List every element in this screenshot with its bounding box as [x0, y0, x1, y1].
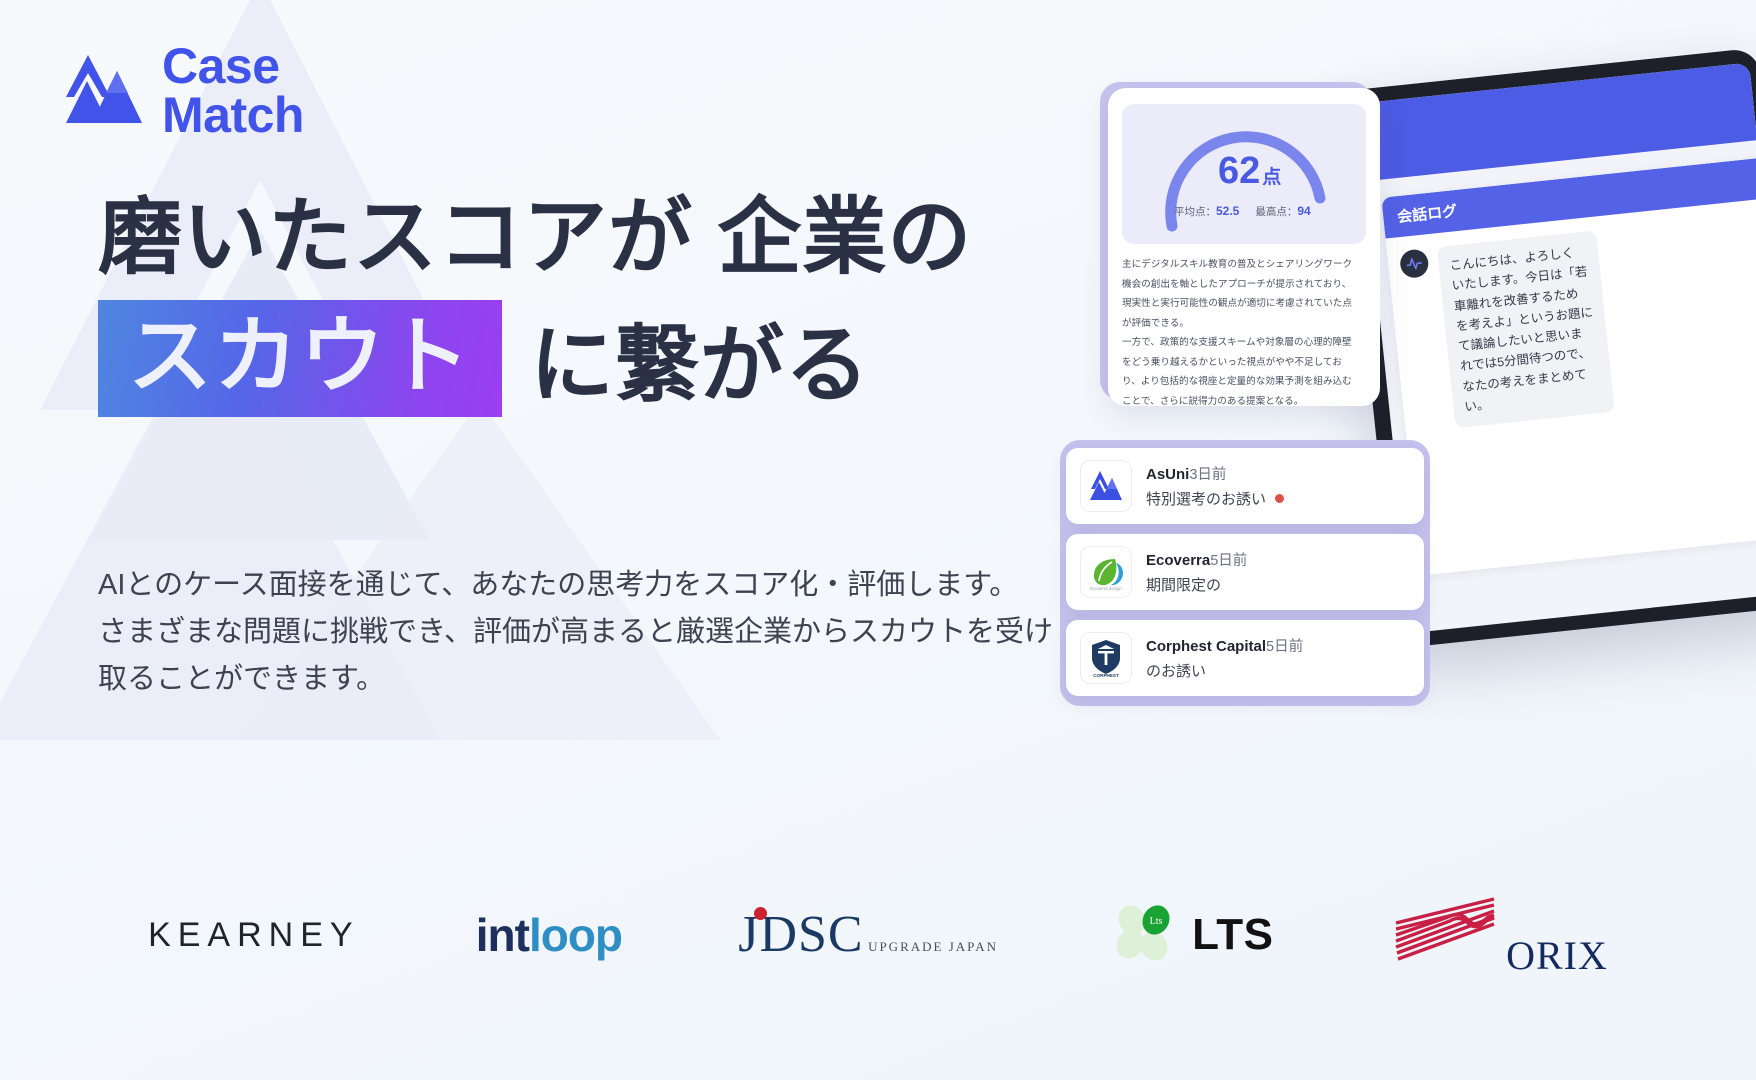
partner-logo-lts: Lts LTS [1114, 903, 1273, 968]
score-value: 62点 [1218, 152, 1281, 190]
scout-time: 3日前 [1189, 467, 1226, 483]
report-line: 現実性と実行可能性の観点が適切に考慮されていた点 [1122, 296, 1366, 313]
ai-pulse-icon [1399, 248, 1430, 279]
hero-description-line: さまざまな問題に挑戦でき、評価が高まると厳選企業からスカウトを受け [98, 609, 1063, 656]
partner-logo-intloop: intloop [476, 908, 622, 962]
report-line: 主にデジタルスキル教育の普及とシェアリングワーク [1122, 257, 1366, 274]
scout-company: Ecoverra [1146, 552, 1210, 569]
brand-line-2: Match [162, 91, 304, 140]
unread-dot-icon [1275, 494, 1284, 503]
scout-time: 5日前 [1266, 639, 1303, 655]
report-line: をどう乗り越えるかといった視点がやや不足してお [1122, 355, 1366, 372]
score-report-text: 主にデジタルスキル教育の普及とシェアリングワーク 機会の創出を軸としたアプローチ… [1122, 257, 1366, 410]
hero-description: AIとのケース面接を通じて、あなたの思考力をスコア化・評価します。 さまざまな問… [98, 562, 1063, 703]
asuni-mountain-icon [1080, 460, 1132, 512]
svg-text:Ecoverra design: Ecoverra design [1090, 586, 1122, 591]
scout-time: 5日前 [1210, 553, 1247, 569]
mountain-logo-icon [62, 51, 146, 131]
scout-header: AsUni3日前 [1146, 467, 1226, 483]
report-line: 機会の創出を軸としたアプローチが提示されており、 [1122, 277, 1366, 294]
score-statistics: 平均点：52.5 最高点：94 [1174, 204, 1311, 219]
partner-logo-orix: ORIX [1390, 891, 1608, 979]
scout-header: Ecoverra5日前 [1146, 553, 1247, 569]
list-item[interactable]: CORPHEST Corphest Capital5日前 のお誘い [1066, 620, 1424, 696]
headline-highlight-chip: スカウト [98, 300, 502, 416]
scout-notification-list: AsUni3日前 特別選考のお誘い Ecoverra design Ecover… [1066, 448, 1424, 696]
lts-clover-icon: Lts [1114, 903, 1176, 968]
scout-header: Corphest Capital5日前 [1146, 639, 1303, 655]
report-line: ことで、さらに説得力のある提案となる。 [1122, 394, 1366, 411]
brand-logo[interactable]: Case Match [62, 42, 304, 140]
average-score: 平均点：52.5 [1174, 204, 1239, 219]
headline-line-1: 磨いたスコアが 企業の [98, 190, 1068, 284]
corphest-shield-icon: CORPHEST [1080, 632, 1132, 684]
score-gauge: 62点 平均点：52.5 最高点：94 [1122, 104, 1366, 244]
orix-waves-icon [1390, 956, 1506, 973]
hero-description-line: 取ることができます。 [98, 656, 1063, 703]
score-unit: 点 [1262, 167, 1281, 188]
conversation-log-panel: 会話ログ こんにちは、よろしく いたします。今日は「若 車離れを改善するため を… [1381, 158, 1756, 576]
product-mockup: 会話ログ こんにちは、よろしく いたします。今日は「若 車離れを改善するため を… [1076, 0, 1756, 790]
scout-message: 期間限定の [1146, 574, 1410, 595]
chat-message-bubble: こんにちは、よろしく いたします。今日は「若 車離れを改善するため を考えよ」と… [1437, 231, 1615, 429]
tablet-header-bar [1357, 63, 1756, 182]
svg-text:CORPHEST: CORPHEST [1093, 673, 1119, 678]
max-score: 最高点：94 [1255, 204, 1310, 219]
report-line: り、より包括的な視座と定量的な効果予測を組み込む [1122, 374, 1366, 391]
scout-company: Corphest Capital [1146, 638, 1266, 655]
brand-line-1: Case [162, 42, 304, 91]
ecoverra-leaf-icon: Ecoverra design [1080, 546, 1132, 598]
list-item[interactable]: AsUni3日前 特別選考のお誘い [1066, 448, 1424, 524]
partner-logo-jdsc: JDSC UPGRADE JAPAN [738, 909, 998, 961]
list-item[interactable]: Ecoverra design Ecoverra5日前 期間限定の [1066, 534, 1424, 610]
partner-logo-strip: KEARNEY intloop JDSC UPGRADE JAPAN Lts [0, 830, 1756, 1080]
svg-text:Lts: Lts [1150, 916, 1163, 927]
report-line: 一方で、政策的な支援スキームや対象層の心理的障壁 [1122, 335, 1366, 352]
scout-message: のお誘い [1146, 660, 1410, 681]
hero-description-line: AIとのケース面接を通じて、あなたの思考力をスコア化・評価します。 [98, 562, 1063, 609]
score-card: 62点 平均点：52.5 最高点：94 主にデジタルスキル教育の普及とシェアリン… [1108, 88, 1380, 406]
score-number: 62 [1218, 150, 1260, 192]
scout-company: AsUni [1146, 466, 1189, 483]
headline-tail: に繋がる [530, 298, 870, 419]
partner-logo-kearney: KEARNEY [148, 916, 360, 955]
page-title: 磨いたスコアが 企業の スカウト に繋がる [98, 190, 1068, 419]
hero-left-column: Case Match 磨いたスコアが 企業の スカウト に繋がる AIとのケース… [0, 0, 1090, 790]
report-line: が評価できる。 [1122, 316, 1366, 333]
scout-message: 特別選考のお誘い [1146, 488, 1410, 509]
